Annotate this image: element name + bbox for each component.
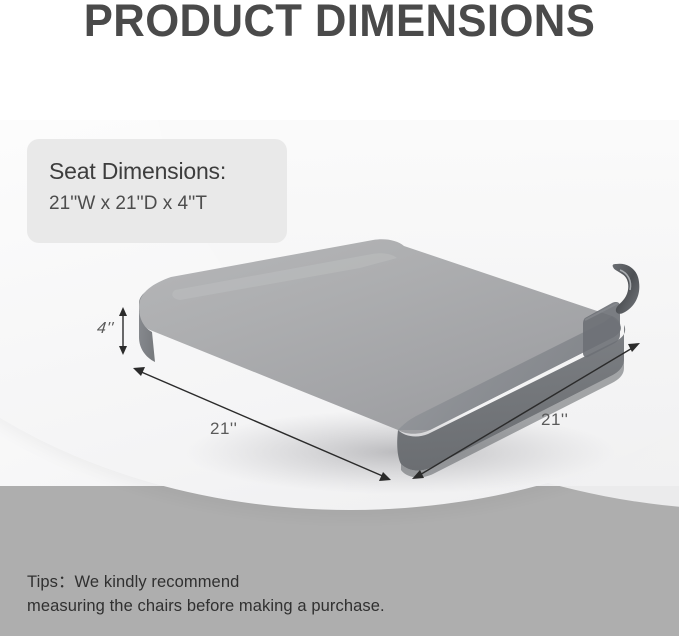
dimension-label-thickness: 4'' [96, 320, 114, 338]
seat-dimensions-heading: Seat Dimensions: [49, 157, 287, 186]
dimension-label-depth: 21'' [541, 410, 568, 430]
product-dimensions-infographic: PRODUCT DIMENSIONS Seat Dimensions: 21''… [0, 0, 679, 636]
tips-text: Tips：We kindly recommend measuring the c… [27, 571, 385, 619]
seat-dimensions-value: 21''W x 21''D x 4''T [49, 190, 287, 218]
seat-dimensions-callout: Seat Dimensions: 21''W x 21''D x 4''T [27, 139, 287, 243]
page-title: PRODUCT DIMENSIONS [10, 0, 669, 47]
tips-line-1: Tips：We kindly recommend [27, 571, 385, 595]
tips-line-2: measuring the chairs before making a pur… [27, 595, 385, 619]
dimension-label-width: 21'' [210, 419, 237, 439]
